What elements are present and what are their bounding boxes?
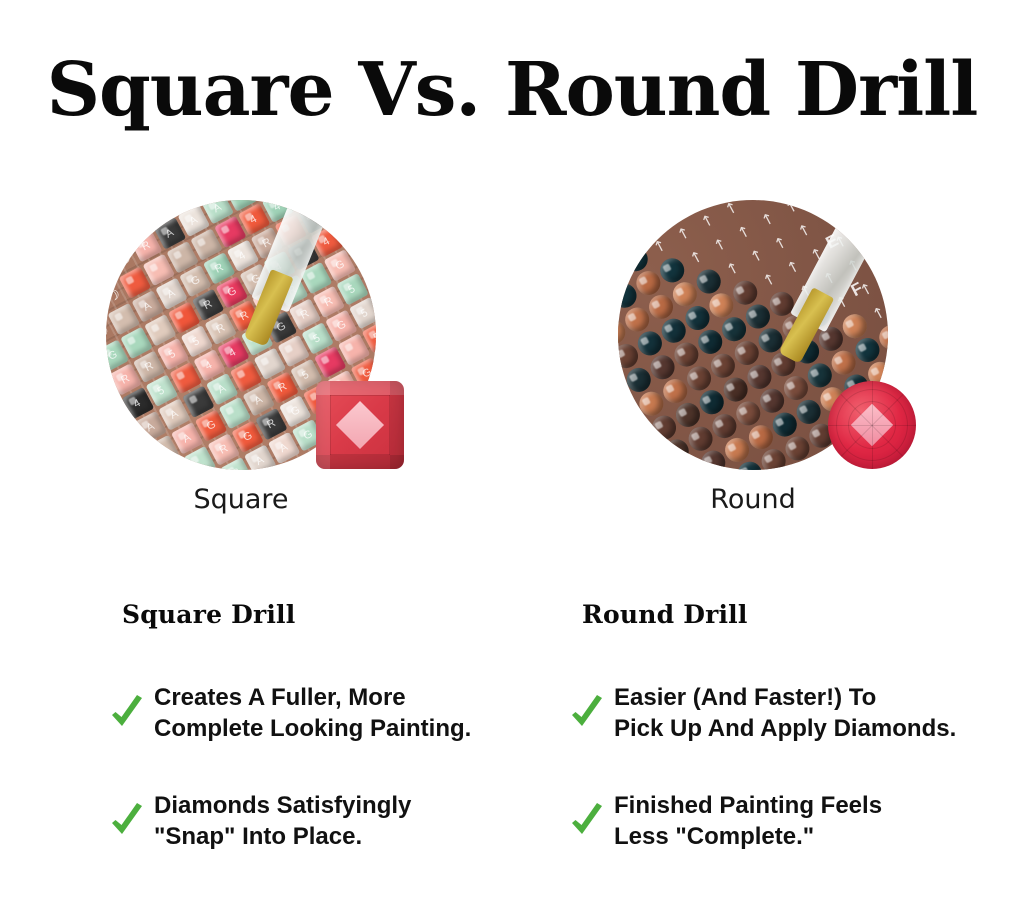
round-gem-body [828,381,916,469]
square-gem-sample [316,381,406,471]
comparison-column-round: ↑↑↑↑↑↑↑↑↑↑↑↑↑↑↑↑↑↑↑↑↑↑↑↑↑↑↑↑↑↑↑↑↑↑↑↑↑↑↑↑… [512,195,1024,535]
check-icon [110,693,144,733]
details-row: Square Drill Creates A Fuller, More Comp… [0,600,1024,900]
round-photo-caption: Round [618,483,888,517]
list-item: Finished Painting Feels Less "Complete." [570,790,1024,852]
canvas-symbol: ☽ [106,286,123,306]
square-drill-heading: Square Drill [122,600,590,630]
page-title: Square Vs. Round Drill [0,48,1024,132]
square-photo-wrap: G5RARARG54A4AR5GGRAAA5RG44RR4AAGR4RGG5RG… [106,195,406,475]
round-photo-wrap: ↑↑↑↑↑↑↑↑↑↑↑↑↑↑↑↑↑↑↑↑↑↑↑↑↑↑↑↑↑↑↑↑↑↑↑↑↑↑↑↑… [618,195,918,475]
details-column-round: Round Drill Easier (And Faster!) To Pick… [570,600,1024,898]
square-photo-caption: Square [106,483,376,517]
canvas-symbol: ☽ [106,323,112,343]
check-icon [110,801,144,841]
round-drill-heading: Round Drill [582,600,1024,630]
list-item: Creates A Fuller, More Complete Looking … [110,682,590,744]
bullet-text: Diamonds Satisfyingly "Snap" Into Place. [154,790,411,852]
square-gem-body [316,381,404,469]
canvas-symbol: ☽ [106,226,121,246]
canvas-symbol: ☽ [106,202,109,222]
bullet-text: Easier (And Faster!) To Pick Up And Appl… [614,682,956,744]
round-gem-sample [828,381,918,471]
canvas-symbol: ☽ [106,262,110,282]
list-item: Diamonds Satisfyingly "Snap" Into Place. [110,790,590,852]
check-icon [570,801,604,841]
check-icon [570,693,604,733]
canvas-symbol: ☽ [126,213,145,233]
canvas-symbol: ☽ [115,250,134,270]
details-column-square: Square Drill Creates A Fuller, More Comp… [110,600,590,898]
comparison-column-square: G5RARARG54A4AR5GGRAAA5RG44RR4AAGR4RGG5RG… [0,195,512,535]
list-item: Easier (And Faster!) To Pick Up And Appl… [570,682,1024,744]
canvas-symbol: ☽ [114,200,133,209]
comparison-row: G5RARARG54A4AR5GGRAAA5RG44RR4AAGR4RGG5RG… [0,195,1024,535]
bullet-text: Finished Painting Feels Less "Complete." [614,790,882,852]
bullet-text: Creates A Fuller, More Complete Looking … [154,682,471,744]
square-gem-table-facet [336,401,384,449]
